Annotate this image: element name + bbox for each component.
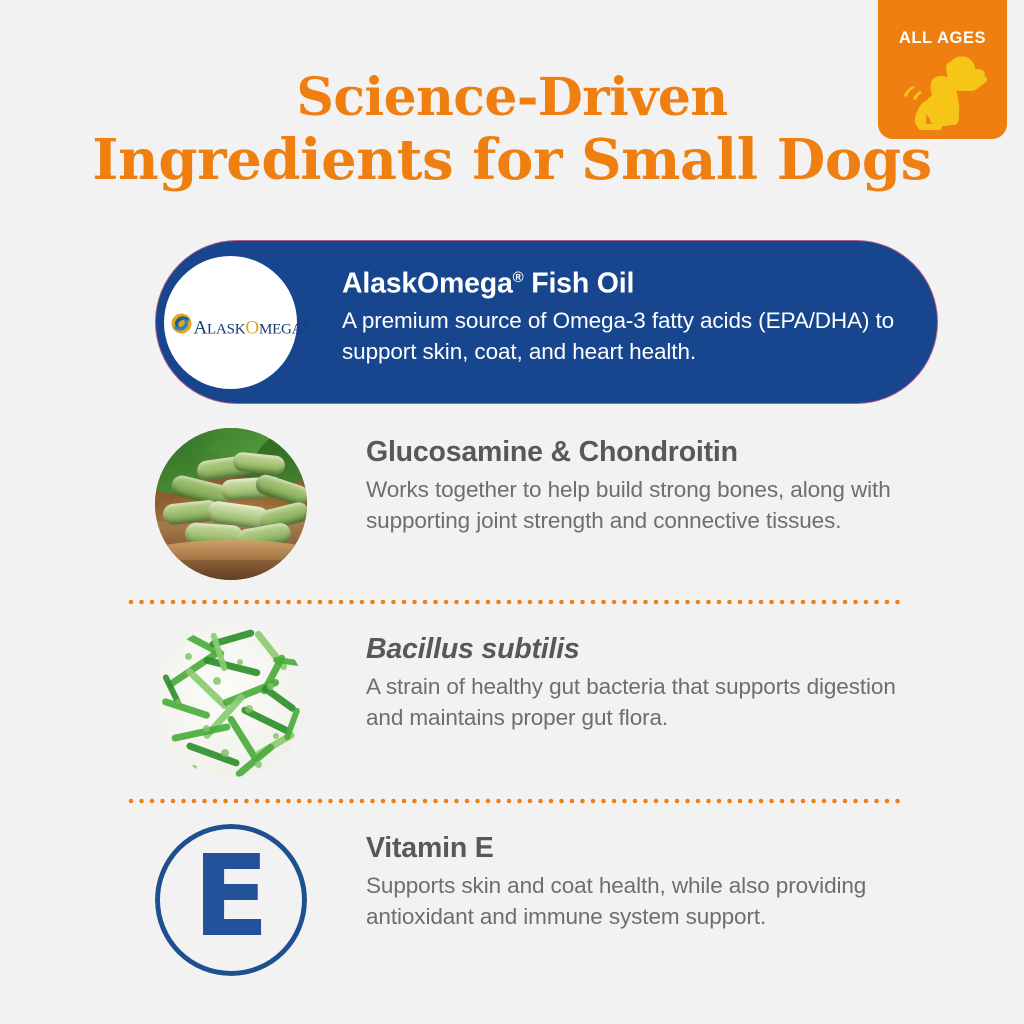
- bacteria-microscope-photo: [155, 625, 307, 777]
- alaskomega-logo: ALASKOMEGA®: [164, 256, 297, 389]
- ingredient-body: A strain of healthy gut bacteria that su…: [366, 671, 926, 733]
- featured-ingredient-text: AlaskOmega® Fish Oil A premium source of…: [342, 261, 902, 367]
- featured-ingredient-title: AlaskOmega® Fish Oil: [342, 261, 902, 301]
- ingredient-body: Works together to help build strong bone…: [366, 474, 926, 536]
- alaskomega-logotype: ALASKOMEGA®: [194, 314, 309, 339]
- all-ages-badge-label: ALL AGES: [878, 29, 1007, 48]
- logo-registered-mark: ®: [302, 319, 308, 328]
- featured-ingredient-card: ALASKOMEGA® AlaskOmega® Fish Oil A premi…: [155, 240, 938, 404]
- ingredient-text-glucosamine: Glucosamine & Chondroitin Works together…: [366, 435, 926, 536]
- page-title-line-2: Ingredients for Small Dogs: [0, 129, 1024, 192]
- logo-letter-a: A: [194, 317, 208, 338]
- page-title: Science-Driven Ingredients for Small Dog…: [0, 66, 1024, 192]
- logo-letters-lask: LASK: [207, 321, 245, 337]
- featured-ingredient-body: A premium source of Omega-3 fatty acids …: [342, 305, 902, 367]
- ingredient-body: Supports skin and coat health, while als…: [366, 870, 926, 932]
- featured-title-suffix: Fish Oil: [524, 268, 635, 300]
- vitamin-e-letter: E: [193, 841, 270, 953]
- logo-letter-o: O: [245, 317, 259, 338]
- logo-letters-mega: MEGA: [259, 321, 302, 337]
- ingredient-title: Glucosamine & Chondroitin: [366, 435, 926, 470]
- powered-by-text: POWERED BY: [96, 237, 218, 241]
- page-title-line-1: Science-Driven: [0, 66, 1024, 129]
- ingredient-title: Vitamin E: [366, 831, 926, 866]
- section-divider: [128, 599, 902, 605]
- ingredient-text-bacillus-subtilis: Bacillus subtilis A strain of healthy gu…: [366, 632, 926, 733]
- alaskomega-swirl-icon: [171, 313, 192, 334]
- section-divider: [128, 798, 902, 804]
- ingredient-title: Bacillus subtilis: [366, 632, 926, 667]
- ingredient-text-vitamin-e: Vitamin E Supports skin and coat health,…: [366, 831, 926, 932]
- featured-title-registered: ®: [513, 269, 524, 286]
- green-capsules-photo: [155, 428, 307, 580]
- vitamin-e-circle-icon: E: [155, 824, 307, 976]
- featured-title-main: AlaskOmega: [342, 268, 513, 300]
